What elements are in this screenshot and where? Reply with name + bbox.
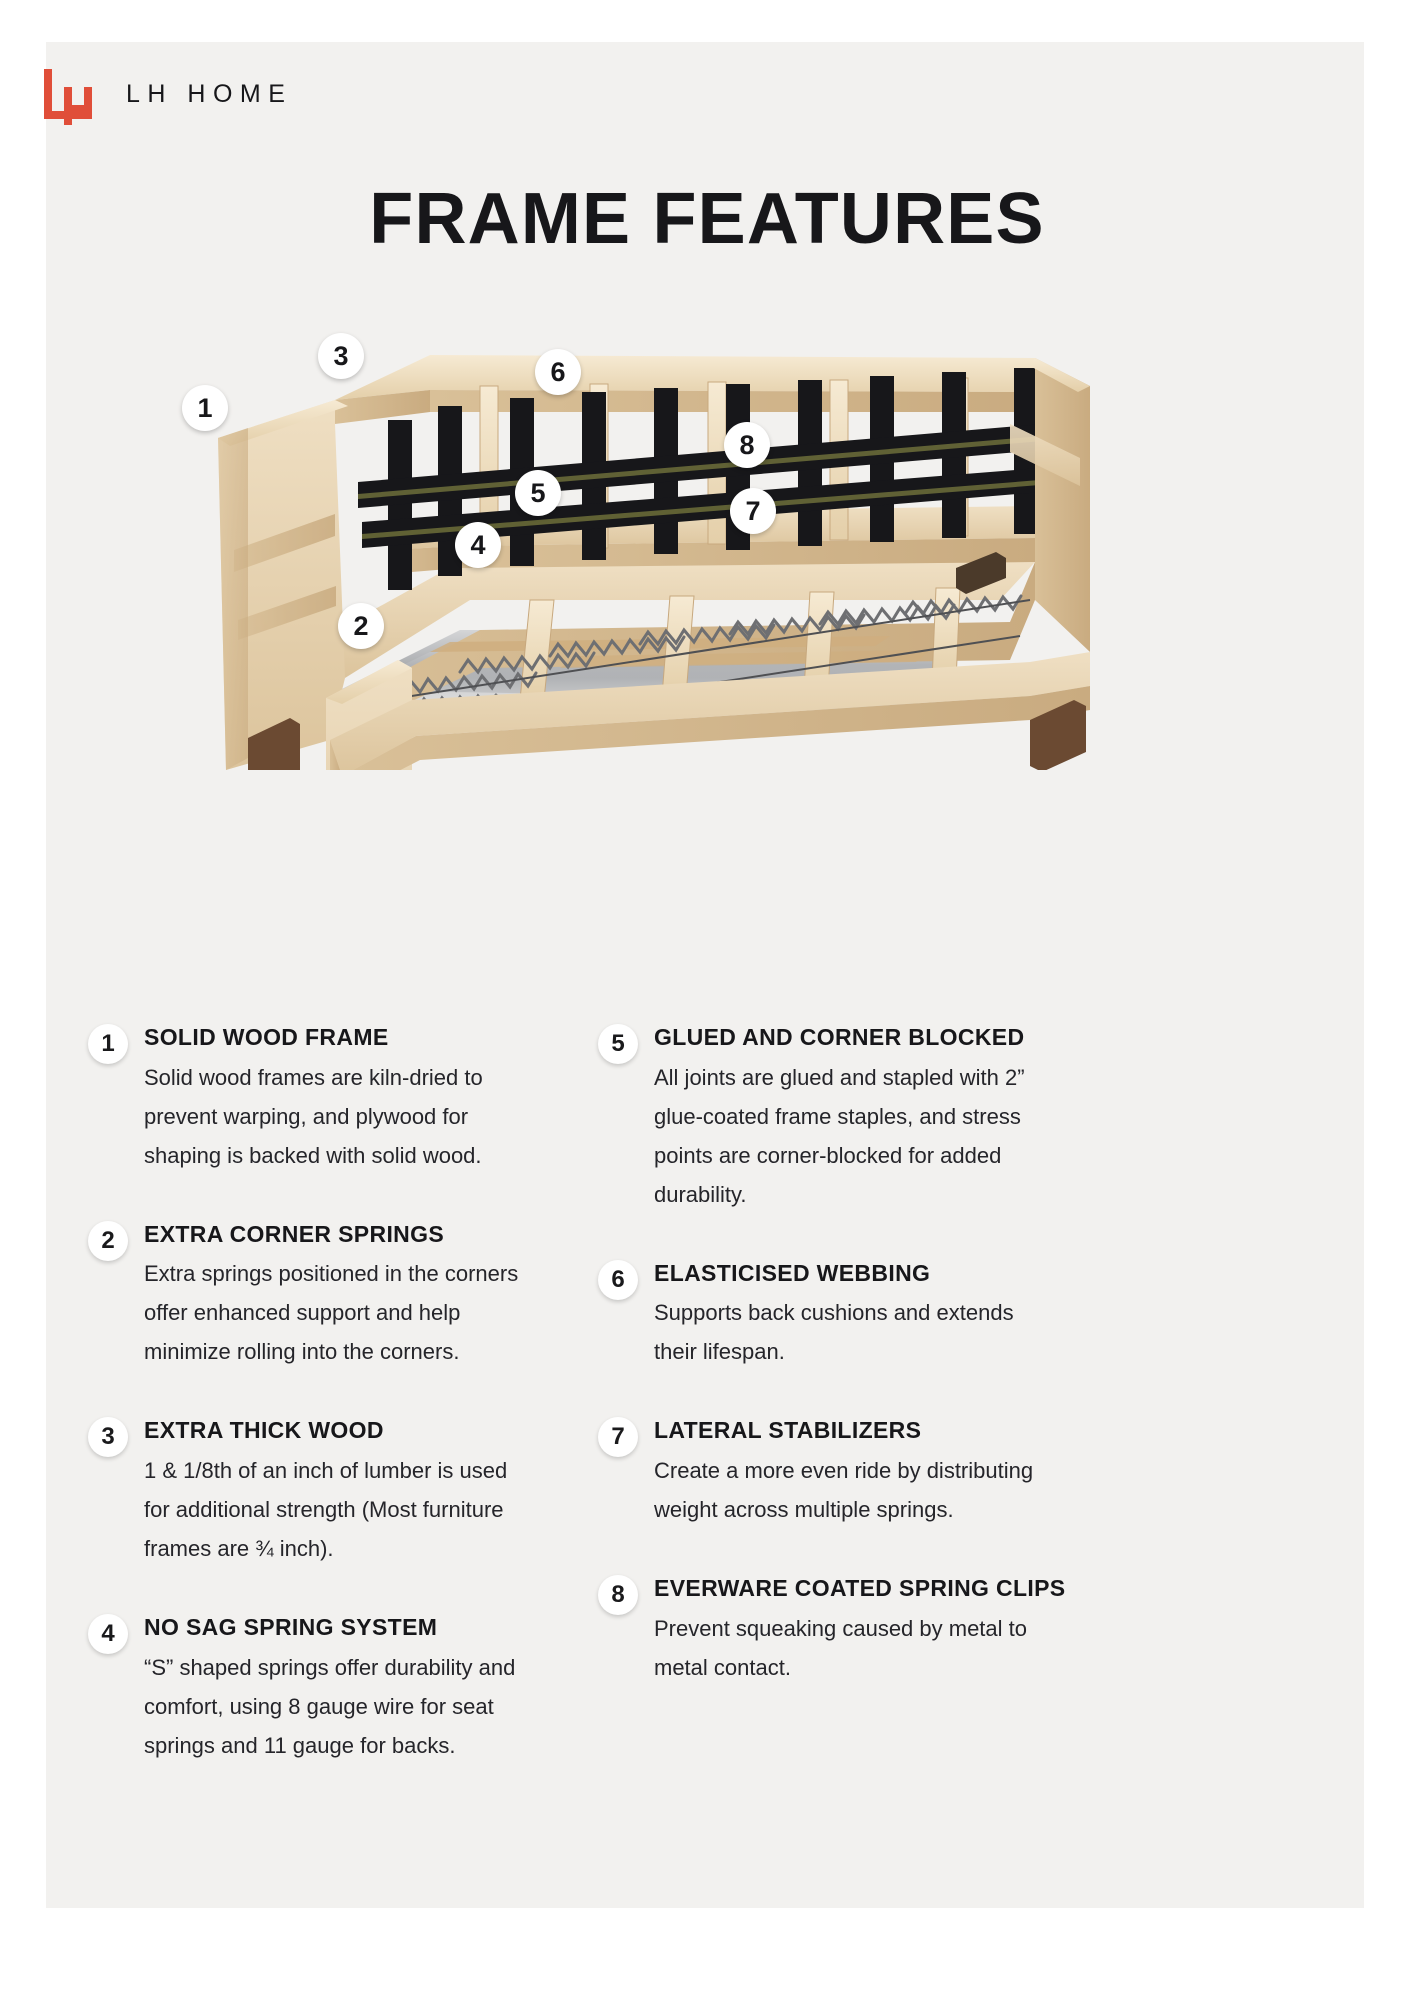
- lh-monogram-icon: [38, 63, 100, 125]
- feature-body: Extra springs positioned in the corners …: [144, 1254, 528, 1371]
- feature-item: 2 EXTRA CORNER SPRINGS Extra springs pos…: [88, 1219, 528, 1372]
- feature-heading: EXTRA THICK WOOD: [144, 1417, 528, 1444]
- frame-photo: 1 2 3 4 5 6 7 8: [130, 300, 1130, 770]
- callout-5: 5: [515, 470, 561, 516]
- feature-heading: EXTRA CORNER SPRINGS: [144, 1221, 528, 1248]
- page-title: FRAME FEATURES: [0, 178, 1414, 260]
- feature-column-left: 1 SOLID WOOD FRAME Solid wood frames are…: [88, 1022, 528, 1765]
- callout-6: 6: [535, 349, 581, 395]
- feature-number-badge: 4: [88, 1614, 128, 1654]
- feature-body: All joints are glued and stapled with 2”…: [654, 1058, 1038, 1214]
- feature-heading: ELASTICISED WEBBING: [654, 1260, 1038, 1287]
- infographic-page: LH HOME FRAME FEATURES: [0, 0, 1414, 2000]
- feature-number-badge: 3: [88, 1417, 128, 1457]
- feature-heading: GLUED AND CORNER BLOCKED: [654, 1024, 1038, 1051]
- feature-heading: LATERAL STABILIZERS: [654, 1417, 1038, 1444]
- feature-item: 8 EVERWARE COATED SPRING CLIPS Prevent s…: [598, 1573, 1038, 1687]
- feature-column-right: 5 GLUED AND CORNER BLOCKED All joints ar…: [598, 1022, 1038, 1765]
- feature-item: 1 SOLID WOOD FRAME Solid wood frames are…: [88, 1022, 528, 1175]
- brand-header: LH HOME: [38, 58, 292, 130]
- callout-4: 4: [455, 522, 501, 568]
- feature-number-badge: 2: [88, 1221, 128, 1261]
- feature-item: 3 EXTRA THICK WOOD 1 & 1/8th of an inch …: [88, 1415, 528, 1568]
- feature-item: 4 NO SAG SPRING SYSTEM “S” shaped spring…: [88, 1612, 528, 1765]
- callout-2: 2: [338, 603, 384, 649]
- brand-wordmark: LH HOME: [126, 80, 292, 109]
- feature-body: “S” shaped springs offer durability and …: [144, 1648, 528, 1765]
- feature-item: 6 ELASTICISED WEBBING Supports back cush…: [598, 1258, 1038, 1372]
- feature-number-badge: 1: [88, 1024, 128, 1064]
- feature-body: Supports back cushions and extends their…: [654, 1293, 1038, 1371]
- feature-number-badge: 5: [598, 1024, 638, 1064]
- feature-item: 5 GLUED AND CORNER BLOCKED All joints ar…: [598, 1022, 1038, 1214]
- callout-3: 3: [318, 333, 364, 379]
- feature-number-badge: 8: [598, 1575, 638, 1615]
- callout-7: 7: [730, 488, 776, 534]
- feature-body: Prevent squeaking caused by metal to met…: [654, 1609, 1066, 1687]
- feature-body: Solid wood frames are kiln-dried to prev…: [144, 1058, 528, 1175]
- feature-heading: EVERWARE COATED SPRING CLIPS: [654, 1575, 1066, 1602]
- feature-body: 1 & 1/8th of an inch of lumber is used f…: [144, 1451, 528, 1568]
- feature-number-badge: 6: [598, 1260, 638, 1300]
- feature-number-badge: 7: [598, 1417, 638, 1457]
- feature-item: 7 LATERAL STABILIZERS Create a more even…: [598, 1415, 1038, 1529]
- feature-heading: NO SAG SPRING SYSTEM: [144, 1614, 528, 1641]
- feature-list: 1 SOLID WOOD FRAME Solid wood frames are…: [88, 1022, 1328, 1765]
- callout-8: 8: [724, 422, 770, 468]
- feature-body: Create a more even ride by distributing …: [654, 1451, 1038, 1529]
- feature-heading: SOLID WOOD FRAME: [144, 1024, 528, 1051]
- frame-illustration: [130, 300, 1130, 770]
- callout-1: 1: [182, 385, 228, 431]
